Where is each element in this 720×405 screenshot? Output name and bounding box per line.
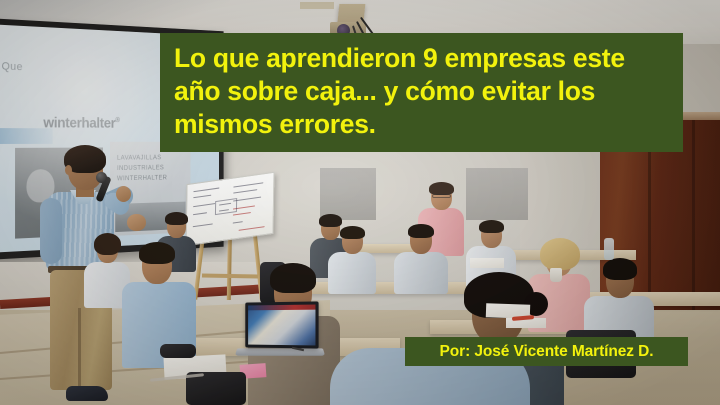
acoustic-panel <box>466 168 528 220</box>
byline-banner: Por: José Vicente Martínez D. <box>405 337 688 366</box>
headline-line-1: Lo que aprendieron 9 empresas este <box>174 42 669 75</box>
camera-bag <box>160 344 196 358</box>
laptop-screen-content <box>248 305 315 346</box>
presenter-shoe <box>66 386 108 401</box>
image-canvas: Que winterhalter® LAVAVAJILLAS INDUSTRIA… <box>0 0 720 405</box>
laptop-slide-header <box>248 305 315 311</box>
headline-banner: Lo que aprendieron 9 empresas este año s… <box>160 33 683 152</box>
presenter-leg-seam <box>78 308 81 390</box>
papers <box>470 258 504 268</box>
flipchart-paper <box>185 172 274 247</box>
headline-line-2: año sobre caja... y cómo evitar los <box>174 75 669 108</box>
byline-text: Por: José Vicente Martínez D. <box>440 343 654 361</box>
microphone-head-icon <box>96 172 107 183</box>
presenter-left-arm <box>40 198 62 264</box>
laptop-keyboard <box>235 348 325 355</box>
presenter-mic-hand <box>116 186 131 202</box>
presenter-open-hand <box>127 214 146 231</box>
water-bottle <box>604 238 614 260</box>
acoustic-panel <box>320 168 376 220</box>
easel-leg <box>227 230 232 300</box>
headline-line-3: mismos errores. <box>174 108 669 141</box>
presenter-ear <box>65 165 72 175</box>
laptop[interactable] <box>245 301 318 348</box>
projector-ceiling-plate <box>300 2 334 9</box>
glasses-icon <box>432 194 451 198</box>
cup <box>550 268 562 282</box>
headline-text: Lo que aprendieron 9 empresas este año s… <box>174 42 669 141</box>
